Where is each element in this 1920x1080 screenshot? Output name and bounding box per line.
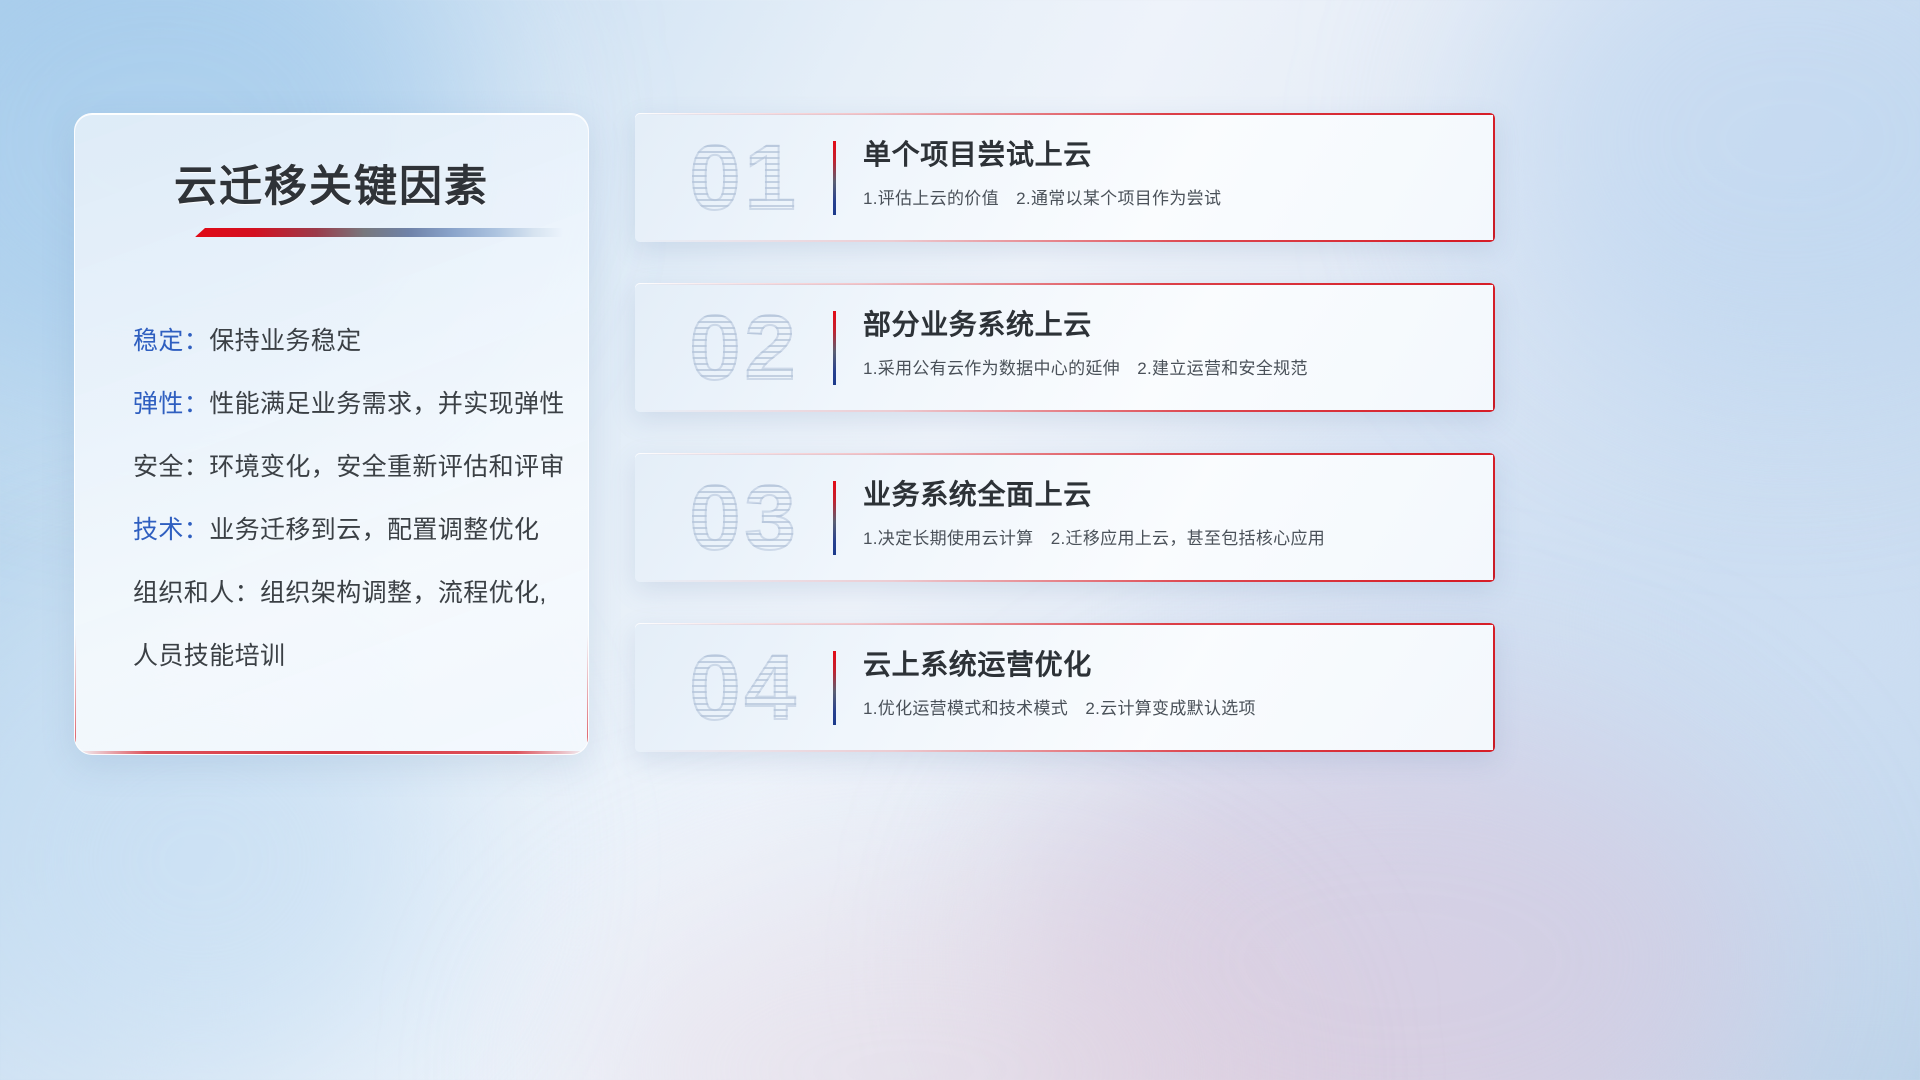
card-title: 业务系统全面上云 (863, 475, 1465, 515)
card-top-accent-line (635, 113, 1495, 115)
factor-label: 稳定： (133, 327, 209, 355)
card-description: 1.优化运营模式和技术模式 2.云计算变成默认选项 (863, 697, 1465, 721)
card-title: 单个项目尝试上云 (863, 135, 1465, 175)
card-description: 1.评估上云的价值 2.通常以某个项目作为尝试 (863, 187, 1465, 211)
migration-stage-cards: 01 单个项目尝试上云 1.评估上云的价值 2.通常以某个项目作为尝试 02 部… (635, 113, 1495, 793)
key-factors-panel: 云迁移关键因素 稳定：保持业务稳定 弹性：性能满足业务需求，并实现弹性 安全：环… (74, 113, 589, 755)
factor-label: 组织和人： (133, 579, 260, 607)
card-bottom-accent-line (635, 750, 1495, 752)
card-bottom-accent-line (635, 240, 1495, 242)
list-item: 组织和人：组织架构调整，流程优化, (133, 562, 554, 625)
factor-label: 弹性： (133, 390, 209, 418)
title-underline-gradient (195, 228, 563, 237)
card-body: 单个项目尝试上云 1.评估上云的价值 2.通常以某个项目作为尝试 (863, 135, 1465, 211)
card-right-accent-edge (1493, 453, 1495, 582)
stage-number: 03 (657, 467, 832, 569)
list-item: 弹性：性能满足业务需求，并实现弹性 (133, 373, 554, 436)
slide-canvas: 云迁移关键因素 稳定：保持业务稳定 弹性：性能满足业务需求，并实现弹性 安全：环… (0, 0, 1920, 1080)
card-right-accent-edge (1493, 113, 1495, 242)
card-right-accent-edge (1493, 283, 1495, 412)
stage-card-02[interactable]: 02 部分业务系统上云 1.采用公有云作为数据中心的延伸 2.建立运营和安全规范 (635, 283, 1495, 412)
factor-label: 安全： (133, 453, 209, 481)
factor-text: 保持业务稳定 (209, 327, 361, 355)
card-top-accent-line (635, 453, 1495, 455)
card-title: 云上系统运营优化 (863, 645, 1465, 685)
stage-number: 02 (657, 297, 832, 399)
card-body: 部分业务系统上云 1.采用公有云作为数据中心的延伸 2.建立运营和安全规范 (863, 305, 1465, 381)
stage-number: 01 (657, 127, 832, 229)
factor-text: 性能满足业务需求，并实现弹性 (209, 390, 565, 418)
panel-right-edge-accent (587, 634, 588, 754)
card-accent-bar (833, 651, 836, 725)
stage-card-04[interactable]: 04 云上系统运营优化 1.优化运营模式和技术模式 2.云计算变成默认选项 (635, 623, 1495, 752)
factor-text: 组织架构调整，流程优化, (260, 579, 547, 607)
card-top-accent-line (635, 283, 1495, 285)
card-bottom-accent-line (635, 580, 1495, 582)
card-body: 云上系统运营优化 1.优化运营模式和技术模式 2.云计算变成默认选项 (863, 645, 1465, 721)
key-factors-list: 稳定：保持业务稳定 弹性：性能满足业务需求，并实现弹性 安全：环境变化，安全重新… (133, 310, 554, 688)
card-description: 1.采用公有云作为数据中心的延伸 2.建立运营和安全规范 (863, 357, 1465, 381)
card-accent-bar (833, 141, 836, 215)
list-item: 人员技能培训 (133, 625, 554, 688)
panel-left-edge-accent (75, 634, 76, 754)
stage-number: 04 (657, 637, 832, 739)
stage-card-03[interactable]: 03 业务系统全面上云 1.决定长期使用云计算 2.迁移应用上云，甚至包括核心应… (635, 453, 1495, 582)
card-right-accent-edge (1493, 623, 1495, 752)
card-accent-bar (833, 481, 836, 555)
card-accent-bar (833, 311, 836, 385)
card-body: 业务系统全面上云 1.决定长期使用云计算 2.迁移应用上云，甚至包括核心应用 (863, 475, 1465, 551)
card-top-accent-line (635, 623, 1495, 625)
card-bottom-accent-line (635, 410, 1495, 412)
factor-text: 人员技能培训 (133, 642, 285, 670)
factor-label: 技术： (133, 516, 209, 544)
stage-card-01[interactable]: 01 单个项目尝试上云 1.评估上云的价值 2.通常以某个项目作为尝试 (635, 113, 1495, 242)
card-title: 部分业务系统上云 (863, 305, 1465, 345)
factor-text: 环境变化，安全重新评估和评审 (209, 453, 565, 481)
list-item: 技术：业务迁移到云，配置调整优化 (133, 499, 554, 562)
page-title: 云迁移关键因素 (75, 152, 588, 214)
list-item: 稳定：保持业务稳定 (133, 310, 554, 373)
factor-text: 业务迁移到云，配置调整优化 (209, 516, 539, 544)
list-item: 安全：环境变化，安全重新评估和评审 (133, 436, 554, 499)
card-description: 1.决定长期使用云计算 2.迁移应用上云，甚至包括核心应用 (863, 527, 1465, 551)
